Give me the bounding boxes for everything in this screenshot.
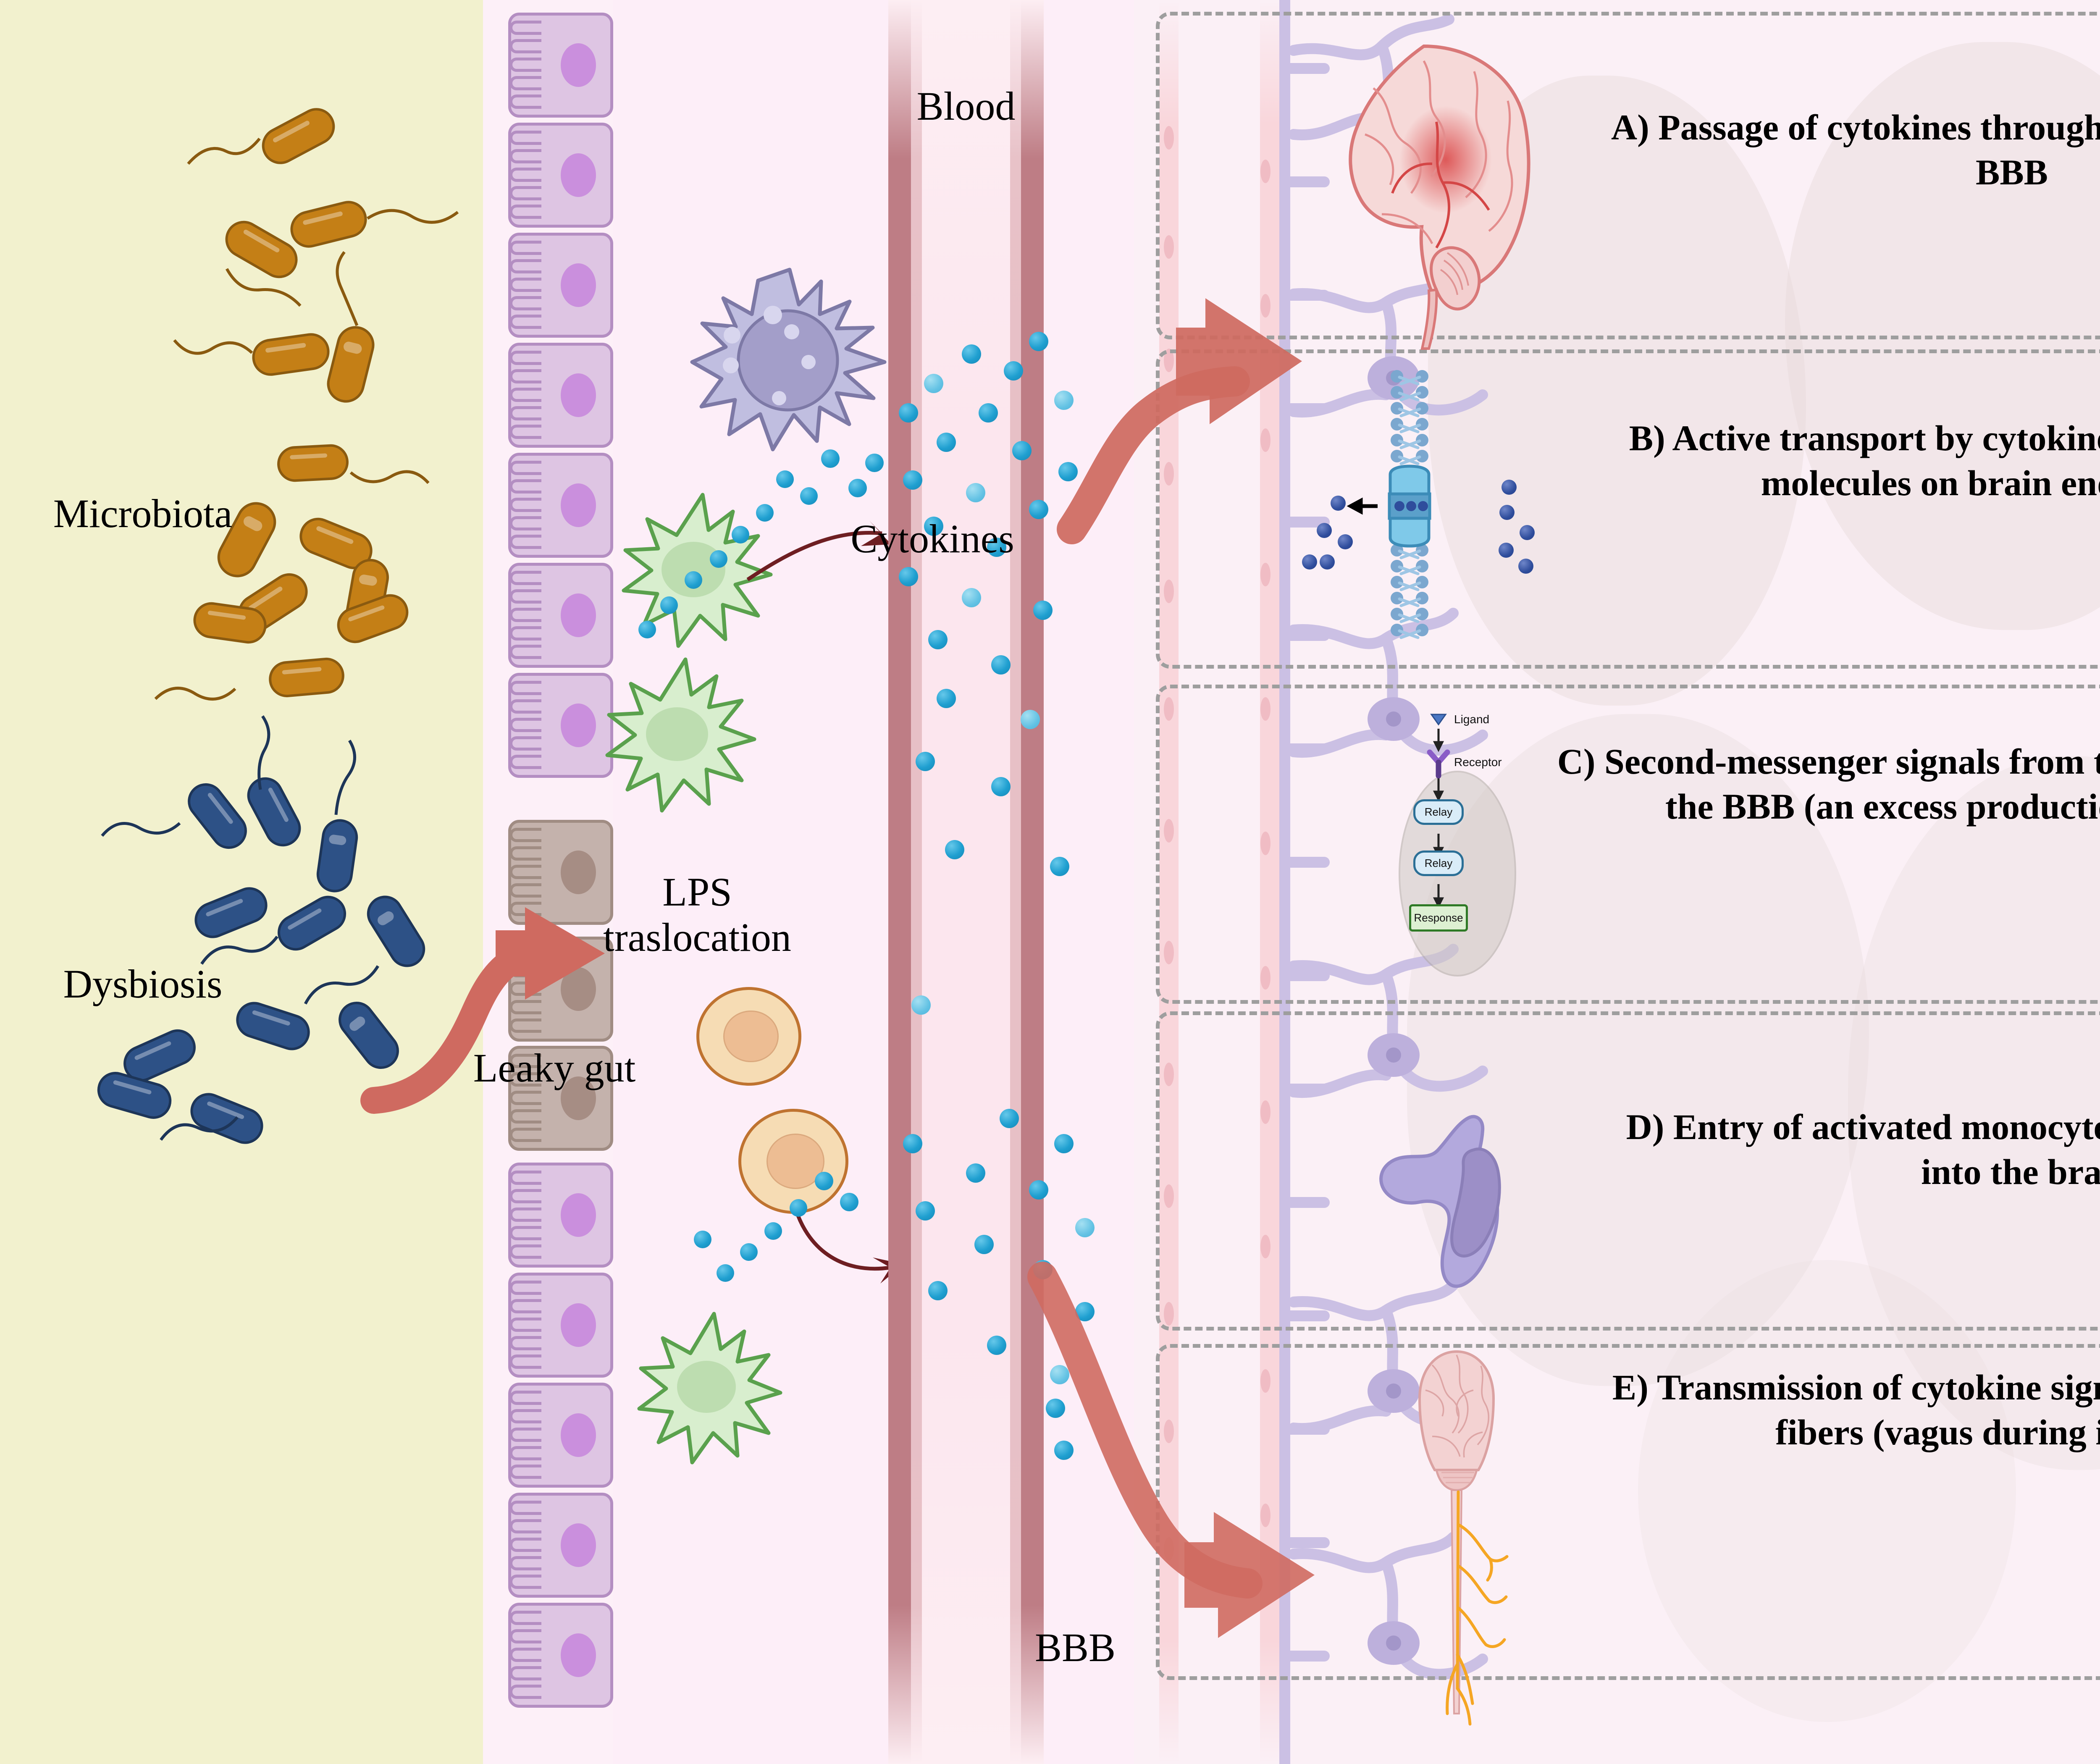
cytokine-dot [1499, 505, 1515, 520]
cytokine-dot [924, 374, 943, 393]
nucleus [561, 703, 596, 747]
cytokine-dot [694, 1231, 711, 1248]
cytokine-dot [740, 1243, 758, 1261]
cytokine-dot [962, 344, 981, 364]
microvilli [509, 131, 541, 220]
monocyte-icon [1373, 1109, 1562, 1302]
relay-node-2: Relay [1413, 850, 1464, 876]
label-lps-line1: LPS [662, 869, 732, 914]
cytokine-dot [1302, 554, 1317, 570]
cytokine-dot [717, 1264, 734, 1282]
epithelial-cell [508, 1273, 613, 1378]
cytokine-dot [756, 504, 774, 522]
cytokine-dot [1004, 361, 1023, 381]
cytokine-dot [790, 1199, 807, 1217]
cytokine-dot [1000, 1109, 1019, 1128]
nucleus [561, 483, 596, 527]
cytokine-dot [1501, 480, 1517, 495]
nucleus [561, 1193, 596, 1237]
nucleus [561, 1413, 596, 1457]
cytokine-dot [764, 1222, 782, 1240]
epithelial-cell [508, 453, 613, 558]
cytokine-dot [1033, 601, 1053, 620]
cytokine-dot [966, 483, 985, 502]
cytokine-dot [1021, 710, 1040, 729]
cytokine-dot [911, 995, 931, 1015]
cytokine-dot [991, 655, 1011, 675]
vessel-wall-inner-left [911, 0, 922, 1764]
label-bbb: BBB [991, 1625, 1159, 1670]
cytokine-dot [800, 487, 818, 505]
microvilli [509, 461, 541, 550]
epithelial-cell [508, 1383, 613, 1488]
dendritic-cell-green [630, 1310, 798, 1478]
panel-text-A: A) Passage of cytokines through leaky re… [1579, 105, 2100, 194]
microvilli [509, 1391, 541, 1480]
cytokine-dot [945, 840, 964, 859]
nucleus [561, 43, 596, 87]
ligand-label: Ligand [1454, 713, 1489, 726]
macrophage-cell [689, 265, 890, 462]
cytokine-dot [899, 403, 918, 423]
label-lps-line2: traslocation [603, 915, 791, 960]
cytokine-dot [1054, 1134, 1074, 1153]
cytokine-dot [1499, 543, 1514, 558]
label-microbiota: Microbiota [8, 491, 277, 536]
dendritic-cell-green [596, 655, 777, 832]
cytokine-dot [1518, 559, 1533, 574]
cytokine-dot [1012, 441, 1032, 460]
label-leaky-gut: Leaky gut [445, 1046, 664, 1090]
cytokine-dot [1338, 534, 1353, 549]
epithelial-cell [508, 1603, 613, 1708]
microvilli [509, 1171, 541, 1260]
cytokine-dot [928, 1281, 948, 1300]
panel-text-B: B) Active transport by cytokine-specific… [1571, 416, 2100, 505]
vessel-wall-inner-right [1010, 0, 1021, 1764]
nucleus [561, 593, 596, 637]
brain-nerve-icon [1369, 1344, 1588, 1722]
microvilli [509, 571, 541, 660]
monocyte-cell [696, 987, 801, 1086]
cytokine-dot [974, 1235, 994, 1254]
label-dysbiosis: Dysbiosis [17, 962, 269, 1006]
receptor-label: Receptor [1454, 756, 1502, 769]
relay-node-1: Relay [1413, 799, 1464, 825]
signaling-cascade-icon: Ligand Receptor Relay Relay Response [1415, 712, 1575, 985]
cytokine-dot [1075, 1218, 1095, 1237]
panel-text-E: E) Transmission of cytokine signals by a… [1579, 1365, 2100, 1454]
cytokine-dot [660, 596, 678, 614]
cytokine-dot [1331, 496, 1346, 511]
cytokine-dot [840, 1193, 858, 1211]
epithelial-cell [508, 343, 613, 448]
microvilli [509, 21, 541, 110]
cytokine-dot [685, 571, 702, 589]
panel-e-entry-arrow [1037, 1268, 1415, 1621]
cytokine-dot [962, 588, 981, 607]
nucleus [561, 1303, 596, 1347]
epithelial-cell [508, 233, 613, 338]
cytokine-dot [710, 550, 727, 568]
microvilli [509, 351, 541, 440]
cytokine-dot [928, 630, 948, 649]
cytokine-dot [1320, 554, 1335, 570]
microvilli [509, 1501, 541, 1590]
cytokine-dot [815, 1172, 833, 1190]
microvilli [509, 241, 541, 330]
nucleus [561, 153, 596, 197]
epithelial-cell [508, 13, 613, 118]
cytokine-dot [991, 777, 1011, 796]
panel-box-C [1156, 685, 2100, 1004]
cytokine-dot [1029, 1180, 1048, 1200]
nucleus [561, 1633, 596, 1677]
epithelial-cell [508, 123, 613, 228]
response-node: Response [1409, 904, 1468, 932]
cytokine-dot [1317, 523, 1332, 538]
cytokine-dot [903, 1134, 922, 1153]
epithelial-cell [508, 1493, 613, 1598]
nucleus [561, 263, 596, 307]
cytokine-dot [903, 470, 922, 490]
cytokine-dot [899, 567, 918, 586]
cytokine-dot [821, 449, 840, 468]
cytokine-dot [979, 403, 998, 423]
vessel-wall-left [888, 0, 911, 1764]
monocyte-cell [738, 1109, 848, 1214]
cytokine-dot [638, 621, 656, 638]
panel-text-C: C) Second-messenger signals from the end… [1554, 739, 2100, 829]
cytokine-dot [848, 479, 867, 497]
cytokine-dot [776, 470, 794, 488]
cytokine-dot [1050, 857, 1069, 876]
figure-canvas: Ligand Receptor Relay Relay Response [0, 0, 2100, 1764]
cytokine-dot [937, 433, 956, 452]
brain-icon [1298, 38, 1550, 307]
cytokine-dot [1029, 332, 1048, 351]
cytokine-dot [987, 1336, 1006, 1355]
membrane-transporter-icon [1382, 370, 1491, 651]
cytokine-dot [916, 1201, 935, 1221]
label-cytokines: Cytokines [798, 517, 1067, 561]
label-blood: Blood [848, 84, 1084, 129]
cytokine-dot [966, 1163, 985, 1183]
panel-text-D: D) Entry of activated monocytes from the… [1592, 1105, 2100, 1194]
epithelial-cell [508, 563, 613, 668]
microvilli [509, 1611, 541, 1700]
microvilli [509, 681, 541, 770]
microvilli [509, 1281, 541, 1370]
cytokine-dot [732, 526, 749, 543]
cytokine-dot [916, 752, 935, 771]
label-lps-translocation: LPS traslocation [588, 869, 806, 960]
epithelial-cell [508, 1163, 613, 1268]
cytokine-dot [937, 689, 956, 708]
nucleus [561, 373, 596, 417]
cytokine-dot [865, 454, 884, 472]
nucleus [723, 1011, 779, 1063]
nucleus [561, 1523, 596, 1567]
cytokine-dot [1520, 525, 1535, 540]
